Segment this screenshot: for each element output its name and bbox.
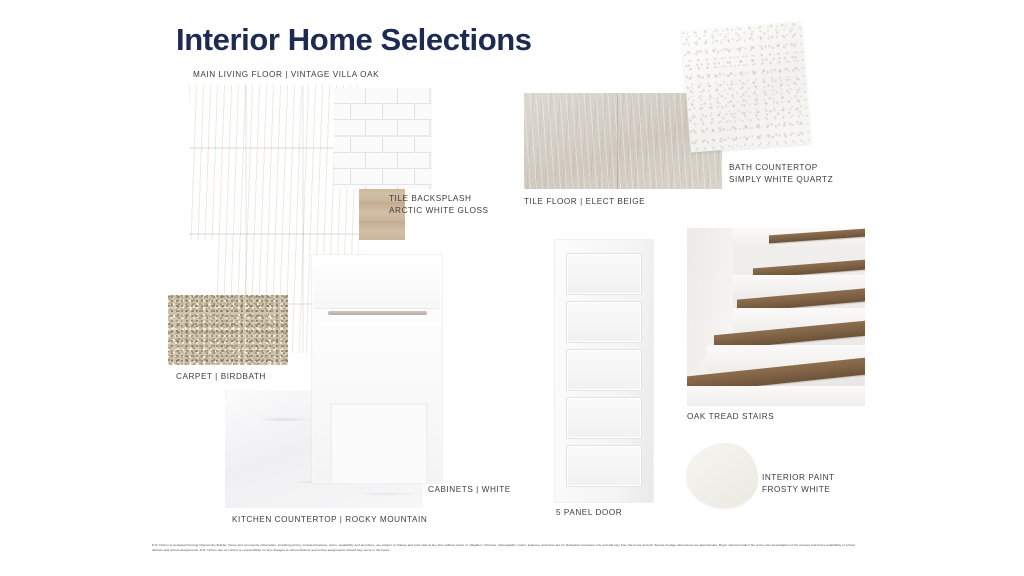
- backsplash-tile: [334, 120, 365, 135]
- cabinet-pull-handle: [328, 311, 427, 315]
- backsplash-tile: [431, 185, 432, 189]
- stair-riser: [687, 386, 865, 406]
- swatch-cabinets: [312, 255, 442, 483]
- label-kitchen-countertop: KITCHEN COUNTERTOP | ROCKY MOUNTAIN: [232, 514, 427, 526]
- swatch-interior-paint: [686, 443, 758, 508]
- label-oak-tread-stairs: OAK TREAD STAIRS: [687, 411, 774, 423]
- backsplash-tile: [366, 153, 397, 168]
- backsplash-tile: [431, 120, 432, 135]
- door-panel: [567, 302, 641, 342]
- label-tile-backsplash: TILE BACKSPLASH ARCTIC WHITE GLOSS: [389, 193, 489, 216]
- label-carpet: CARPET | BIRDBATH: [176, 371, 266, 383]
- swatch-oak-tread-stairs: [687, 228, 865, 406]
- door-panel: [567, 446, 641, 486]
- swatch-tile-backsplash: [334, 88, 432, 189]
- backsplash-tile: [383, 104, 414, 119]
- backsplash-tile: [415, 104, 432, 119]
- backsplash-tile: [334, 104, 350, 119]
- backsplash-tile: [351, 104, 382, 119]
- label-interior-paint: INTERIOR PAINT FROSTY WHITE: [762, 472, 835, 495]
- backsplash-tile: [398, 88, 429, 103]
- swatch-five-panel-door: [555, 240, 653, 502]
- door-panel: [567, 398, 641, 438]
- backsplash-tile: [334, 137, 350, 152]
- backsplash-tile: [398, 120, 429, 135]
- backsplash-tile: [431, 88, 432, 103]
- backsplash-tile: [366, 88, 397, 103]
- cabinet-drawer-front: [314, 257, 440, 309]
- cabinet-center-panel: [331, 404, 427, 483]
- backsplash-tile: [334, 185, 365, 189]
- backsplash-tile: [334, 88, 365, 103]
- backsplash-tile: [334, 153, 365, 168]
- backsplash-tile: [351, 169, 382, 184]
- backsplash-tile: [334, 169, 350, 184]
- backsplash-tile: [383, 137, 414, 152]
- backsplash-tile: [383, 169, 414, 184]
- door-panel: [567, 350, 641, 390]
- label-main-living-floor: MAIN LIVING FLOOR | VINTAGE VILLA OAK: [193, 69, 379, 81]
- backsplash-tile: [415, 137, 432, 152]
- backsplash-tile: [351, 137, 382, 152]
- backsplash-tile: [398, 185, 429, 189]
- swatch-carpet: [168, 295, 288, 365]
- label-bath-countertop: BATH COUNTERTOP SIMPLY WHITE QUARTZ: [729, 162, 833, 185]
- backsplash-tile: [366, 120, 397, 135]
- label-five-panel-door: 5 PANEL DOOR: [556, 507, 622, 519]
- page-title: Interior Home Selections: [176, 22, 532, 58]
- selections-board: Interior Home Selections MAIN LIVING FLO…: [0, 0, 1024, 576]
- backsplash-tile: [398, 153, 429, 168]
- cabinet-door-front: [314, 321, 440, 481]
- label-cabinets: CABINETS | WHITE: [428, 484, 511, 496]
- swatch-bath-countertop: [681, 21, 810, 152]
- backsplash-tile: [366, 185, 397, 189]
- backsplash-tile: [431, 153, 432, 168]
- backsplash-tile: [415, 169, 432, 184]
- legal-disclaimer: D.R. Horton is an Equal Housing Opportun…: [152, 543, 864, 553]
- label-tile-floor: TILE FLOOR | ELECT BEIGE: [524, 196, 645, 208]
- door-panel: [567, 254, 641, 294]
